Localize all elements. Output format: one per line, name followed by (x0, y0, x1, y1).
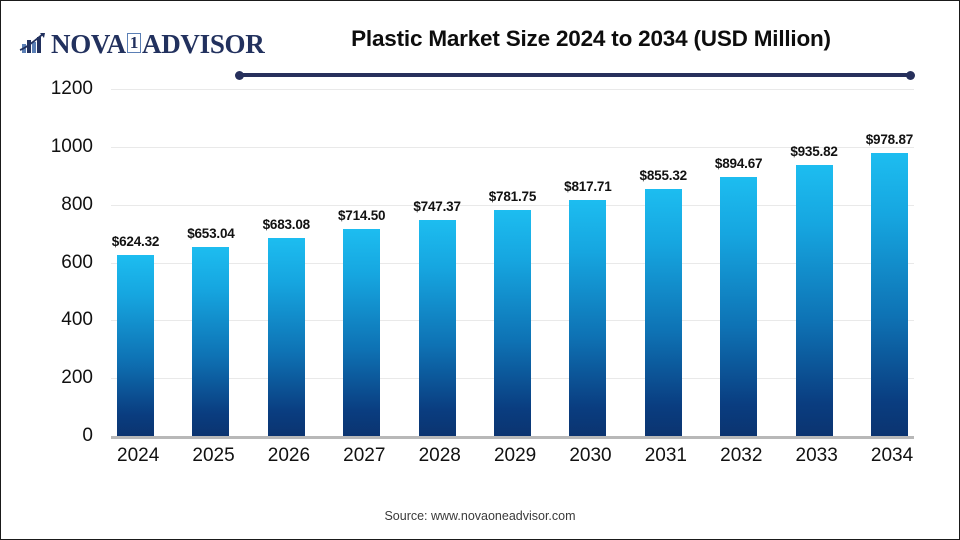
chart-plot-wrapper: 020040060080010001200 $624.32$653.04$683… (1, 89, 959, 489)
bar-column[interactable]: $894.67 (720, 89, 757, 436)
bar-value-label: $714.50 (338, 208, 385, 223)
x-axis-tick-label: 2033 (796, 445, 833, 467)
title-divider (237, 73, 913, 77)
y-axis-tick-label: 1000 (51, 136, 93, 158)
y-axis-tick-label: 600 (61, 252, 93, 274)
company-logo[interactable]: NOVA1ADVISOR (19, 27, 264, 61)
bar-column[interactable]: $817.71 (569, 89, 606, 436)
bar-chart-logo-icon (19, 31, 49, 57)
bar-value-label: $855.32 (640, 168, 687, 183)
bar-column[interactable]: $781.75 (494, 89, 531, 436)
bar-value-label: $683.08 (263, 217, 310, 232)
y-axis-tick-label: 200 (61, 367, 93, 389)
bar-value-label: $817.71 (564, 179, 611, 194)
x-axis: 2024202520262027202820292030203120322033… (111, 445, 914, 467)
bar[interactable] (192, 247, 229, 436)
bar-column[interactable]: $653.04 (192, 89, 229, 436)
bar-value-label: $781.75 (489, 189, 536, 204)
y-axis-tick-label: 0 (82, 425, 93, 447)
bar[interactable] (871, 153, 908, 436)
x-axis-tick-label: 2029 (494, 445, 531, 467)
logo-wordmark: NOVA1ADVISOR (51, 29, 264, 60)
bar[interactable] (569, 200, 606, 436)
y-axis-tick-label: 800 (61, 194, 93, 216)
logo-text-nova: NOVA (51, 29, 126, 60)
bar-value-label: $653.04 (187, 226, 234, 241)
bar-value-label: $978.87 (866, 132, 913, 147)
bar[interactable] (645, 189, 682, 436)
source-note: Source: www.novaoneadvisor.com (1, 509, 959, 523)
x-axis-tick-label: 2030 (569, 445, 606, 467)
bar-value-label: $747.37 (413, 199, 460, 214)
bar-column[interactable]: $624.32 (117, 89, 154, 436)
bar-value-label: $894.67 (715, 156, 762, 171)
bar-series: $624.32$653.04$683.08$714.50$747.37$781.… (111, 89, 914, 436)
y-axis-tick-label: 1200 (51, 78, 93, 100)
plot-area: $624.32$653.04$683.08$714.50$747.37$781.… (111, 89, 914, 437)
bar-column[interactable]: $747.37 (419, 89, 456, 436)
bar-column[interactable]: $935.82 (796, 89, 833, 436)
chart-title: Plastic Market Size 2024 to 2034 (USD Mi… (261, 26, 921, 52)
divider-dot-left (235, 71, 244, 80)
bar[interactable] (117, 255, 154, 436)
bar-column[interactable]: $683.08 (268, 89, 305, 436)
x-axis-tick-label: 2024 (117, 445, 154, 467)
bar-column[interactable]: $714.50 (343, 89, 380, 436)
logo-text-advisor: ADVISOR (142, 29, 264, 60)
bar-column[interactable]: $978.87 (871, 89, 908, 436)
divider-dot-right (906, 71, 915, 80)
divider-line (237, 73, 913, 77)
y-axis-tick-label: 400 (61, 309, 93, 331)
bar[interactable] (720, 177, 757, 436)
logo-one-badge: 1 (127, 33, 141, 53)
bar-column[interactable]: $855.32 (645, 89, 682, 436)
bar[interactable] (494, 210, 531, 436)
y-axis: 020040060080010001200 (1, 89, 101, 437)
x-axis-baseline (111, 436, 914, 439)
bar[interactable] (343, 229, 380, 436)
bar-value-label: $935.82 (790, 144, 837, 159)
bar[interactable] (419, 220, 456, 436)
bar[interactable] (796, 165, 833, 436)
x-axis-tick-label: 2026 (268, 445, 305, 467)
x-axis-tick-label: 2025 (192, 445, 229, 467)
chart-header: NOVA1ADVISOR Plastic Market Size 2024 to… (1, 1, 959, 89)
x-axis-tick-label: 2027 (343, 445, 380, 467)
bar[interactable] (268, 238, 305, 436)
chart-page: NOVA1ADVISOR Plastic Market Size 2024 to… (0, 0, 960, 540)
x-axis-tick-label: 2032 (720, 445, 757, 467)
x-axis-tick-label: 2034 (871, 445, 908, 467)
x-axis-tick-label: 2028 (419, 445, 456, 467)
x-axis-tick-label: 2031 (645, 445, 682, 467)
bar-value-label: $624.32 (112, 234, 159, 249)
